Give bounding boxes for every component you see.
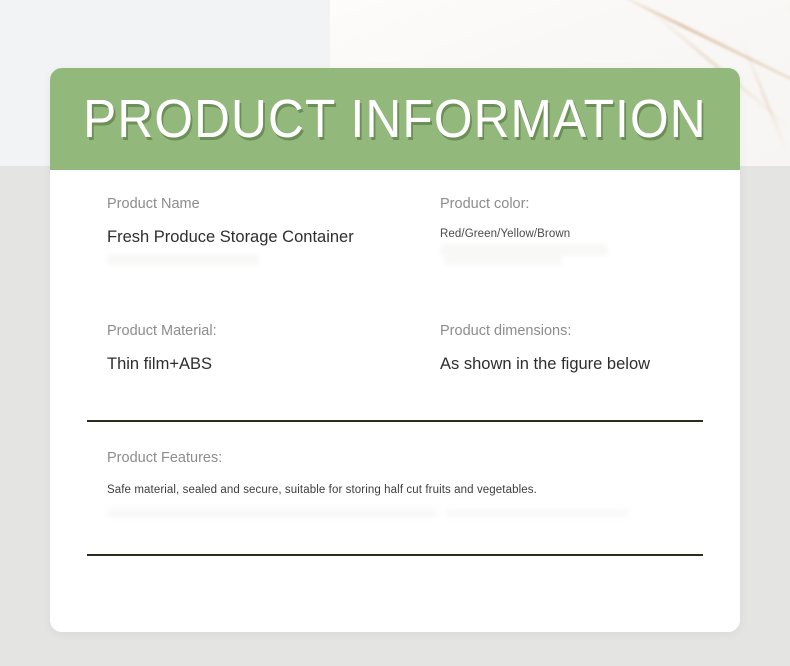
card-header: PRODUCT INFORMATION <box>50 68 740 170</box>
ghost-smudge <box>440 244 608 256</box>
ghost-smudge <box>446 508 628 518</box>
field-label-product-features: Product Features: <box>107 450 707 467</box>
field-product-color: Product color: Red/Green/Yellow/Brown <box>440 196 725 242</box>
field-label-product-color: Product color: <box>440 196 725 213</box>
field-label-product-dimensions: Product dimensions: <box>440 323 725 340</box>
field-value-product-name: Fresh Produce Storage Container <box>107 227 437 247</box>
field-value-product-dimensions: As shown in the figure below <box>440 354 725 374</box>
field-label-product-material: Product Material: <box>107 323 437 340</box>
field-label-product-name: Product Name <box>107 196 437 213</box>
product-information-card: PRODUCT INFORMATION Product Name Fresh P… <box>50 68 740 632</box>
ghost-smudge <box>107 254 259 265</box>
field-product-dimensions: Product dimensions: As shown in the figu… <box>440 323 725 374</box>
field-product-name: Product Name Fresh Produce Storage Conta… <box>107 196 437 247</box>
section-divider-2 <box>87 554 703 556</box>
field-product-material: Product Material: Thin film+ABS <box>107 323 437 374</box>
card-body: Product Name Fresh Produce Storage Conta… <box>50 170 740 632</box>
field-value-product-material: Thin film+ABS <box>107 354 437 374</box>
ghost-smudge <box>444 256 562 265</box>
ghost-smudge <box>107 508 437 518</box>
field-value-product-color: Red/Green/Yellow/Brown <box>440 227 595 242</box>
field-product-features: Product Features: Safe material, sealed … <box>107 450 707 498</box>
product-information-page: PRODUCT INFORMATION Product Name Fresh P… <box>0 0 790 666</box>
page-title: PRODUCT INFORMATION <box>83 92 707 146</box>
field-value-product-features: Safe material, sealed and secure, suitab… <box>107 483 707 498</box>
section-divider-1 <box>87 420 703 422</box>
